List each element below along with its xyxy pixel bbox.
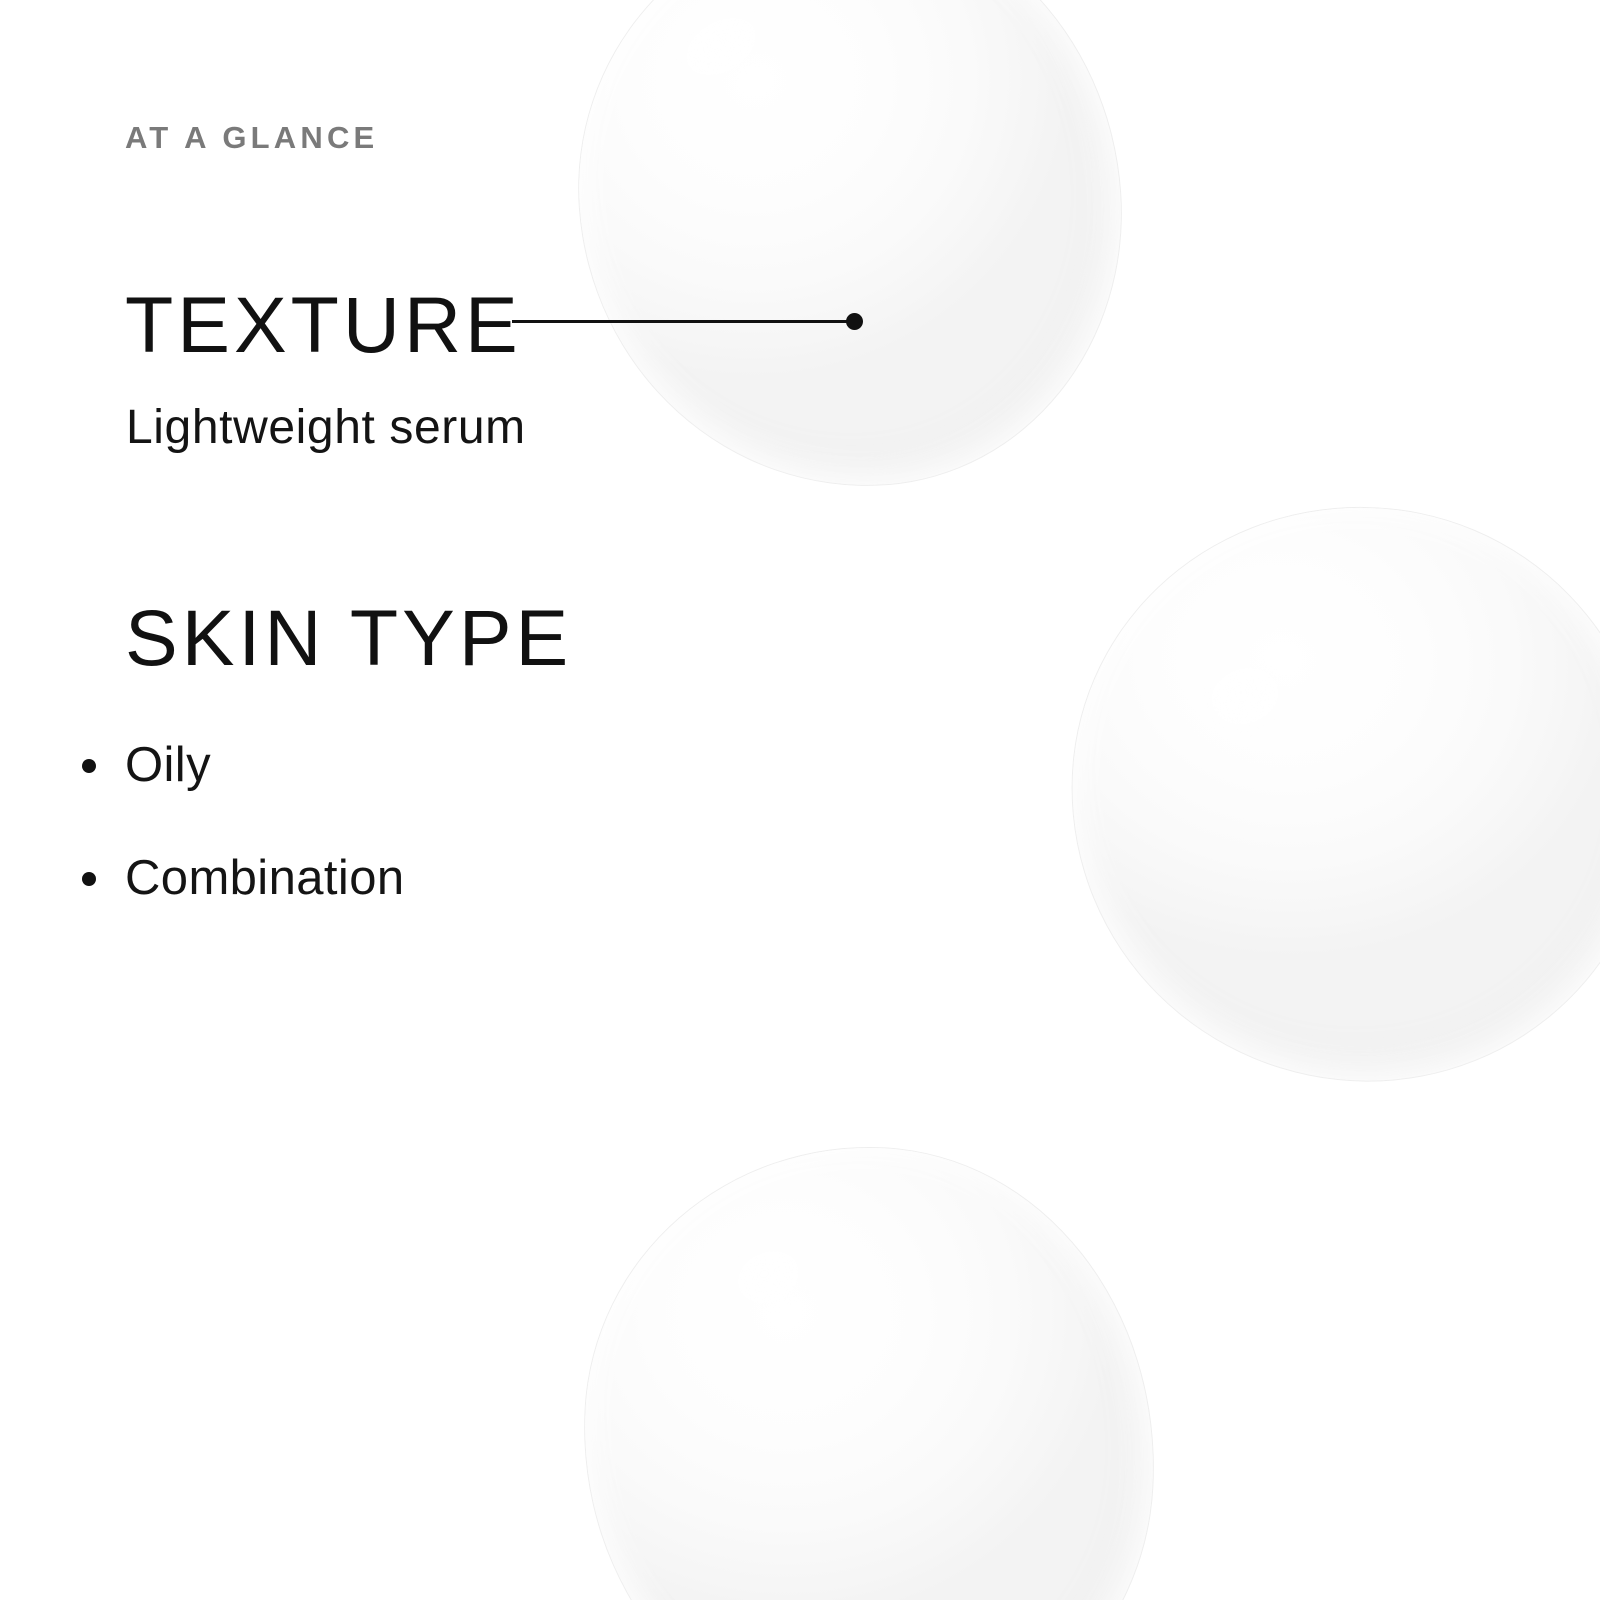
list-item-label: Oily xyxy=(125,738,211,792)
bullet-dot-icon xyxy=(82,872,96,886)
bullet-dot-icon xyxy=(82,759,96,773)
texture-leader-dot-icon xyxy=(846,313,863,330)
texture-value: Lightweight serum xyxy=(126,404,526,452)
list-item-label: Combination xyxy=(125,851,405,905)
texture-heading: TEXTURE xyxy=(125,285,522,364)
section-eyebrow: AT A GLANCE xyxy=(125,122,378,153)
list-item: Oily xyxy=(80,736,405,849)
list-item: Combination xyxy=(80,849,405,962)
texture-leader-line xyxy=(512,320,856,323)
skin-type-list: Oily Combination xyxy=(80,736,405,962)
skin-type-heading: SKIN TYPE xyxy=(125,598,572,677)
product-at-a-glance-card: AT A GLANCE TEXTURE Lightweight serum SK… xyxy=(0,0,1600,1600)
content-column: AT A GLANCE TEXTURE Lightweight serum SK… xyxy=(0,0,1600,1600)
